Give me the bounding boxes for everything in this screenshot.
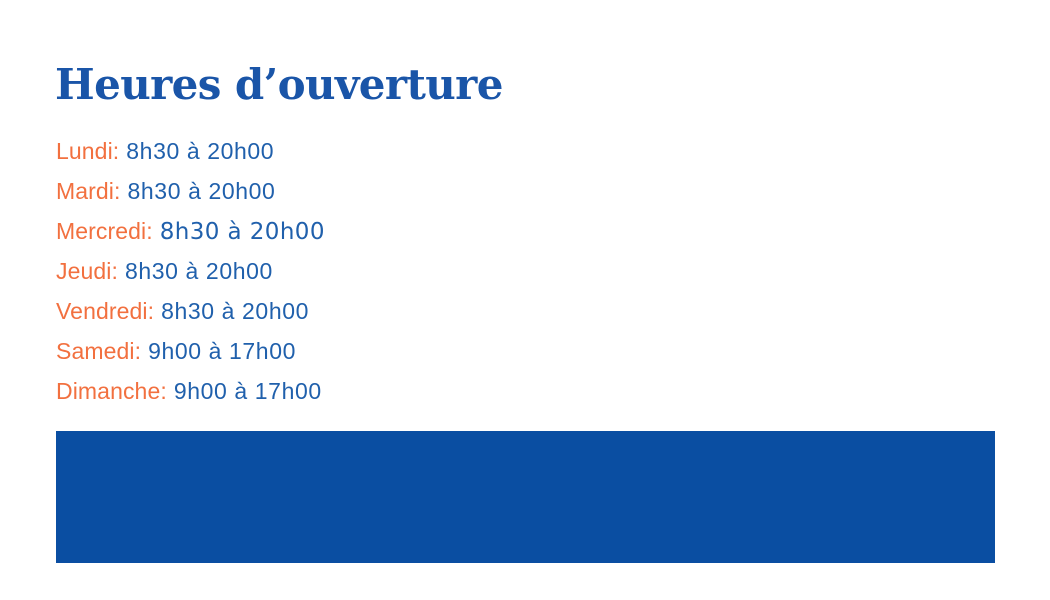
- day-label-dimanche: Dimanche:: [56, 378, 167, 404]
- day-label-mercredi: Mercredi:: [56, 218, 153, 244]
- list-item: Mercredi:8h30 à 20h00: [56, 211, 756, 251]
- opening-hours-list: Lundi:8h30 à 20h00 Mardi:8h30 à 20h00 Me…: [56, 131, 756, 411]
- day-label-jeudi: Jeudi:: [56, 258, 118, 284]
- list-item: Samedi:9h00 à 17h00: [56, 331, 756, 371]
- page-title: Heures d’ouverture: [55, 60, 503, 110]
- day-hours-lundi: 8h30 à 20h00: [126, 138, 274, 164]
- day-label-mardi: Mardi:: [56, 178, 121, 204]
- day-hours-dimanche: 9h00 à 17h00: [174, 378, 322, 404]
- day-hours-mercredi: 8h30 à 20h00: [160, 219, 325, 245]
- day-hours-jeudi: 8h30 à 20h00: [125, 258, 273, 284]
- list-item: Lundi:8h30 à 20h00: [56, 131, 756, 171]
- day-label-vendredi: Vendredi:: [56, 298, 154, 324]
- day-hours-vendredi: 8h30 à 20h00: [161, 298, 309, 324]
- list-item: Jeudi:8h30 à 20h00: [56, 251, 756, 291]
- day-label-lundi: Lundi:: [56, 138, 119, 164]
- blue-banner: [56, 431, 995, 563]
- day-label-samedi: Samedi:: [56, 338, 141, 364]
- slide-canvas: Heures d’ouverture Lundi:8h30 à 20h00 Ma…: [0, 0, 1050, 600]
- list-item: Dimanche:9h00 à 17h00: [56, 371, 756, 411]
- day-hours-samedi: 9h00 à 17h00: [148, 338, 296, 364]
- day-hours-mardi: 8h30 à 20h00: [128, 178, 276, 204]
- list-item: Vendredi:8h30 à 20h00: [56, 291, 756, 331]
- list-item: Mardi:8h30 à 20h00: [56, 171, 756, 211]
